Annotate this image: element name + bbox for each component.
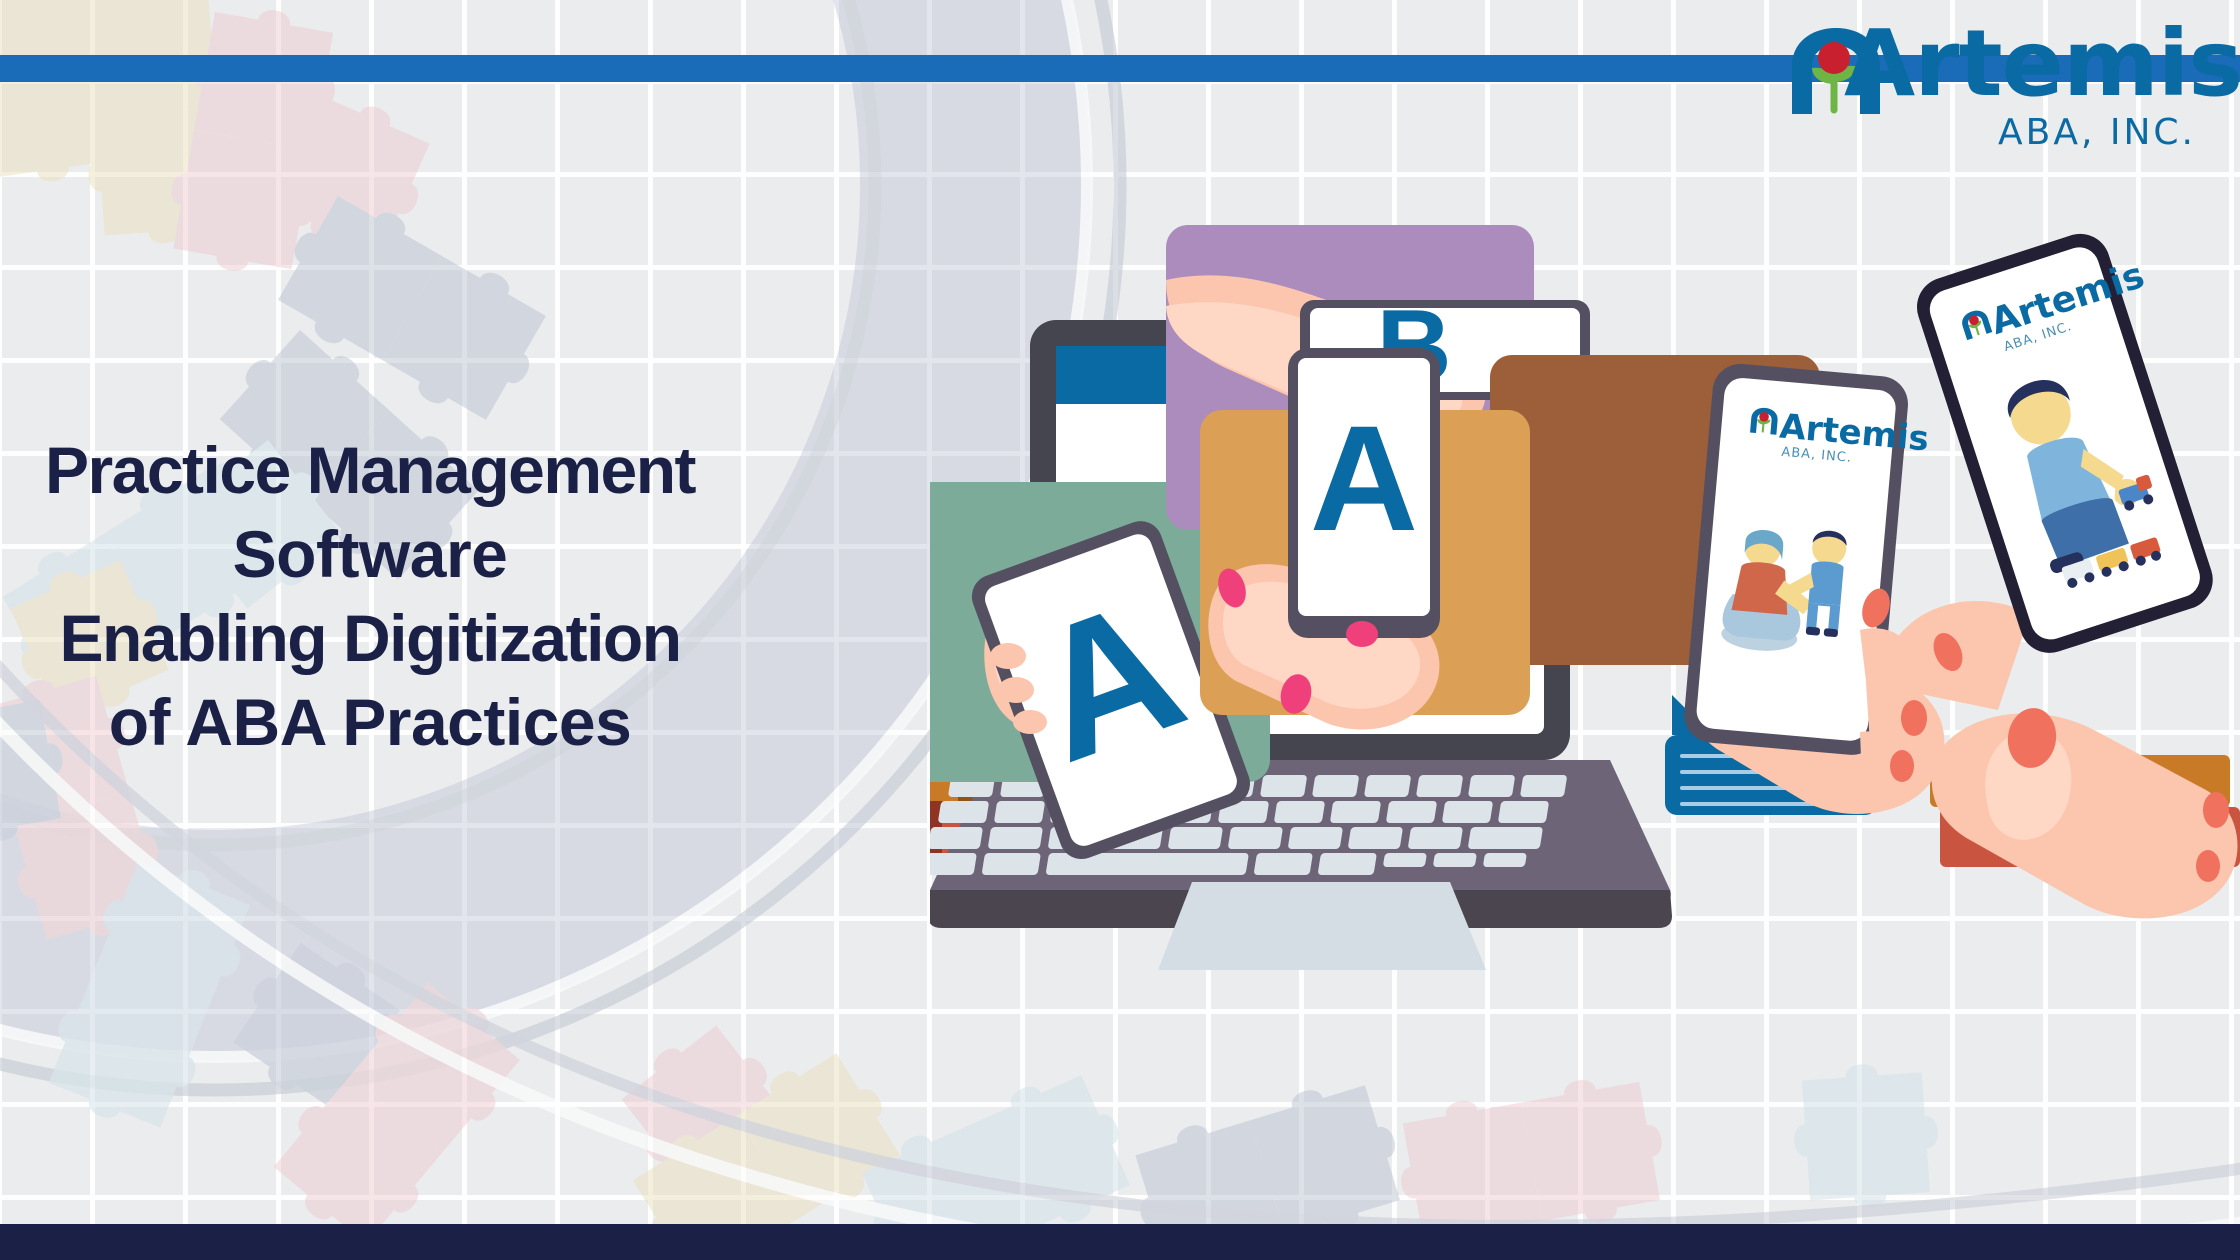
phone-app-therapist-child: Artemis ABA, INC. [1682,362,1944,814]
flashcard-letter: A [1310,394,1418,562]
headline-line-4: of ABA Practices [40,681,700,765]
page-title: Practice Management Software Enabling Di… [40,429,700,764]
artemis-logo: Artemis ABA, INC. [1782,14,2202,144]
logo-subtitle: ABA, INC. [1998,112,2196,153]
hero-illustration: A [930,190,2240,1050]
banner-canvas: Artemis ABA, INC. Practice Management So… [0,0,2240,1260]
headline-line-1: Practice Management [40,429,700,513]
bottom-accent-bar [0,1224,2240,1260]
logo-wordmark: Artemis [1844,18,2240,110]
phone-app-child-toys: Artemis ABA, INC. [1885,218,2240,919]
trackpad [1158,882,1486,970]
headline-line-2: Software [40,513,700,597]
headline-line-3: Enabling Digitization [40,597,700,681]
